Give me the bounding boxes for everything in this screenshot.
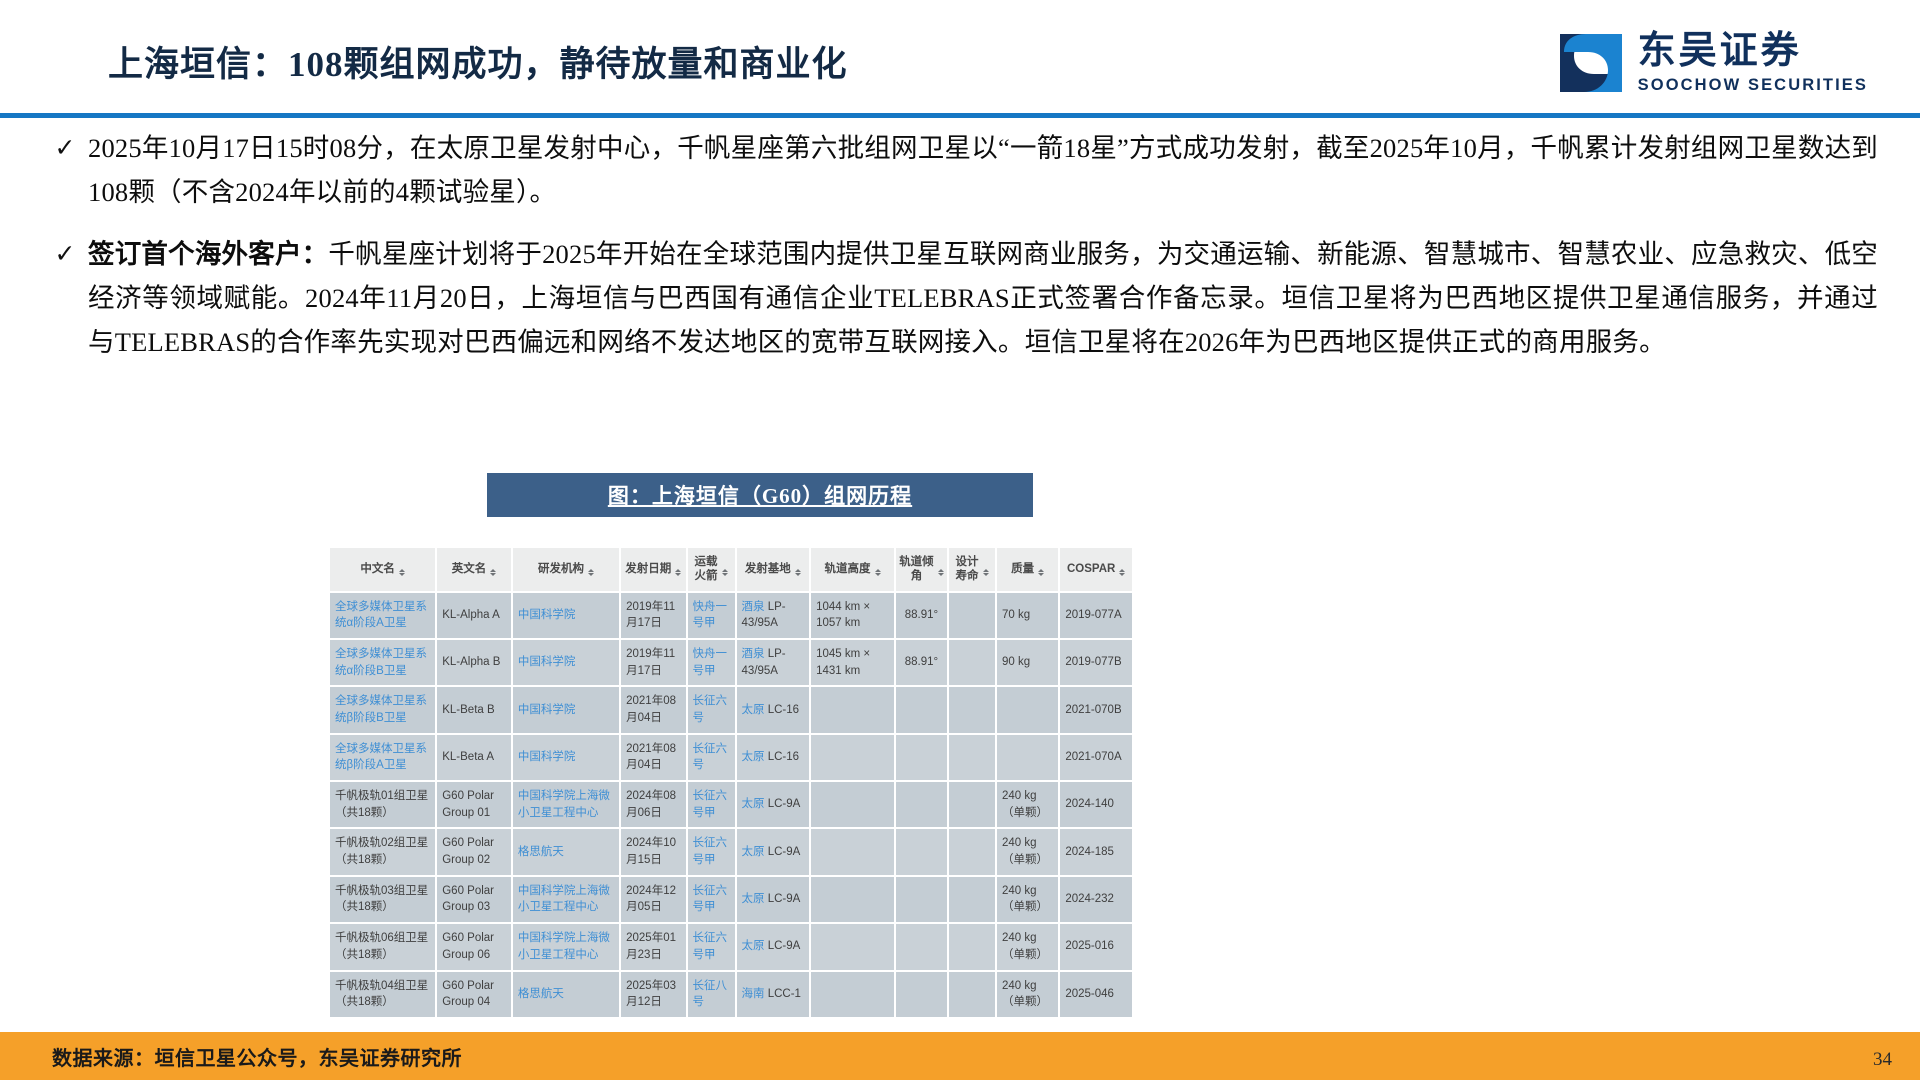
cell-altitude bbox=[810, 781, 895, 828]
sort-icon[interactable] bbox=[722, 566, 728, 572]
cell-launch-site-link[interactable]: 太原 bbox=[742, 798, 765, 810]
cell-launch-site[interactable]: 海南 LCC-1 bbox=[736, 971, 811, 1018]
cell-rocket[interactable]: 长征六号甲 bbox=[687, 781, 736, 828]
cell-org[interactable]: 中国科学院 bbox=[512, 592, 620, 639]
cell-rocket-link[interactable]: 快舟一号甲 bbox=[693, 648, 728, 677]
cell-name-cn-link[interactable]: 全球多媒体卫星系统β阶段A卫星 bbox=[335, 743, 427, 772]
cell-launch-site-link[interactable]: 海南 bbox=[742, 988, 765, 1000]
logo-name-en: SOOCHOW SECURITIES bbox=[1638, 77, 1868, 94]
footer-bar: 数据来源：垣信卫星公众号，东吴证券研究所 bbox=[0, 1032, 1920, 1080]
body-content: ✓ 2025年10月17日15时08分，在太原卫星发射中心，千帆星座第六批组网卫… bbox=[0, 126, 1920, 382]
cell-inclination bbox=[895, 923, 948, 970]
cell-launch-date: 2024年10月15日 bbox=[620, 828, 686, 875]
cell-launch-site-link[interactable]: 太原 bbox=[742, 751, 765, 763]
cell-rocket-link[interactable]: 长征六号 bbox=[693, 695, 728, 724]
column-label: 研发机构 bbox=[538, 562, 584, 576]
cell-org-link[interactable]: 中国科学院上海微小卫星工程中心 bbox=[518, 885, 610, 914]
page-title: 上海垣信：108颗组网成功，静待放量和商业化 bbox=[108, 36, 848, 87]
bullet-text: 2025年10月17日15时08分，在太原卫星发射中心，千帆星座第六批组网卫星以… bbox=[88, 126, 1878, 214]
cell-name-en: G60 Polar Group 04 bbox=[436, 971, 512, 1018]
column-label: 发射基地 bbox=[745, 562, 791, 576]
cell-mass bbox=[996, 734, 1059, 781]
cell-launch-date: 2021年08月04日 bbox=[620, 686, 686, 733]
column-header-altitude[interactable]: 轨道高度 bbox=[810, 548, 895, 592]
cell-altitude bbox=[810, 971, 895, 1018]
cell-rocket[interactable]: 长征六号甲 bbox=[687, 923, 736, 970]
table-row: 全球多媒体卫星系统α阶段B卫星KL-Alpha B中国科学院2019年11月17… bbox=[330, 639, 1133, 686]
sort-icon[interactable] bbox=[1038, 566, 1044, 572]
cell-launch-date: 2019年11月17日 bbox=[620, 592, 686, 639]
column-label: 英文名 bbox=[452, 562, 487, 576]
bullet-item: ✓ 2025年10月17日15时08分，在太原卫星发射中心，千帆星座第六批组网卫… bbox=[0, 126, 1920, 214]
slide-header: 上海垣信：108颗组网成功，静待放量和商业化 东吴证券 SOOCHOW SECU… bbox=[0, 0, 1920, 118]
sort-icon[interactable] bbox=[938, 566, 944, 572]
column-header-name-en[interactable]: 英文名 bbox=[436, 548, 512, 592]
sort-icon[interactable] bbox=[588, 566, 594, 572]
cell-org[interactable]: 中国科学院 bbox=[512, 639, 620, 686]
cell-name-cn[interactable]: 全球多媒体卫星系统α阶段B卫星 bbox=[330, 639, 436, 686]
column-label: 运载 火箭 bbox=[695, 555, 718, 584]
sort-icon[interactable] bbox=[875, 566, 881, 572]
column-header-inclination[interactable]: 轨道倾 角 bbox=[895, 548, 948, 592]
cell-name-cn: 千帆极轨02组卫星（共18颗） bbox=[330, 828, 436, 875]
cell-launch-site-link[interactable]: 太原 bbox=[742, 704, 765, 716]
cell-cospar: 2021-070A bbox=[1059, 734, 1133, 781]
cell-inclination bbox=[895, 828, 948, 875]
cell-lifetime bbox=[948, 639, 996, 686]
cell-mass: 240 kg（单颗） bbox=[996, 781, 1059, 828]
cell-name-cn-link[interactable]: 全球多媒体卫星系统α阶段B卫星 bbox=[335, 648, 427, 677]
sort-icon[interactable] bbox=[983, 566, 989, 572]
cell-rocket[interactable]: 长征八号 bbox=[687, 971, 736, 1018]
cell-cospar: 2024-232 bbox=[1059, 876, 1133, 923]
table-row: 全球多媒体卫星系统β阶段A卫星KL-Beta A中国科学院2021年08月04日… bbox=[330, 734, 1133, 781]
cell-inclination: 88.91° bbox=[895, 592, 948, 639]
cell-org-link[interactable]: 中国科学院上海微小卫星工程中心 bbox=[518, 790, 610, 819]
cell-lifetime bbox=[948, 876, 996, 923]
cell-launch-site[interactable]: 太原 LC-16 bbox=[736, 686, 811, 733]
cell-name-cn[interactable]: 全球多媒体卫星系统β阶段A卫星 bbox=[330, 734, 436, 781]
column-header-rocket[interactable]: 运载 火箭 bbox=[687, 548, 736, 592]
column-header-lifetime[interactable]: 设计 寿命 bbox=[948, 548, 996, 592]
cell-rocket-link[interactable]: 长征八号 bbox=[693, 980, 728, 1009]
cell-rocket[interactable]: 快舟一号甲 bbox=[687, 592, 736, 639]
cell-name-en: G60 Polar Group 03 bbox=[436, 876, 512, 923]
cell-org[interactable]: 中国科学院 bbox=[512, 734, 620, 781]
soochow-s-logo-icon bbox=[1558, 30, 1624, 96]
table-row: 全球多媒体卫星系统β阶段B卫星KL-Beta B中国科学院2021年08月04日… bbox=[330, 686, 1133, 733]
cell-rocket-link[interactable]: 长征六号甲 bbox=[693, 837, 728, 866]
cell-cospar: 2024-185 bbox=[1059, 828, 1133, 875]
cell-launch-site[interactable]: 太原 LC-16 bbox=[736, 734, 811, 781]
figure-title: 图：上海垣信（G60）组网历程 bbox=[608, 480, 912, 510]
satellite-table-container: 中文名 英文名 研发机构 发射日期 运载 火箭 发射基地 轨道高度 轨道倾 角 … bbox=[330, 548, 1134, 1019]
satellite-table: 中文名 英文名 研发机构 发射日期 运载 火箭 发射基地 轨道高度 轨道倾 角 … bbox=[330, 548, 1134, 1019]
header-divider bbox=[0, 113, 1920, 118]
column-label: 质量 bbox=[1011, 562, 1034, 576]
column-label: COSPAR bbox=[1067, 562, 1115, 576]
cell-launch-date: 2024年08月06日 bbox=[620, 781, 686, 828]
cell-mass: 70 kg bbox=[996, 592, 1059, 639]
table-row: 千帆极轨06组卫星（共18颗）G60 Polar Group 06中国科学院上海… bbox=[330, 923, 1133, 970]
cell-mass: 240 kg（单颗） bbox=[996, 876, 1059, 923]
column-header-mass[interactable]: 质量 bbox=[996, 548, 1059, 592]
cell-launch-site[interactable]: 太原 LC-9A bbox=[736, 876, 811, 923]
cell-org-link[interactable]: 中国科学院 bbox=[518, 751, 576, 763]
sort-icon[interactable] bbox=[490, 566, 496, 572]
company-logo: 东吴证券 SOOCHOW SECURITIES bbox=[1558, 28, 1868, 98]
cell-launch-site-link[interactable]: 太原 bbox=[742, 846, 765, 858]
cell-inclination bbox=[895, 781, 948, 828]
cell-launch-date: 2025年03月12日 bbox=[620, 971, 686, 1018]
cell-launch-site[interactable]: 太原 LC-9A bbox=[736, 828, 811, 875]
column-label: 轨道倾 角 bbox=[899, 555, 934, 584]
cell-rocket[interactable]: 快舟一号甲 bbox=[687, 639, 736, 686]
cell-rocket[interactable]: 长征六号 bbox=[687, 734, 736, 781]
cell-inclination bbox=[895, 876, 948, 923]
cell-lifetime bbox=[948, 828, 996, 875]
cell-org[interactable]: 格思航天 bbox=[512, 971, 620, 1018]
cell-mass bbox=[996, 686, 1059, 733]
column-label: 设计 寿命 bbox=[956, 555, 979, 584]
cell-launch-site-link[interactable]: 酒泉 bbox=[742, 601, 765, 613]
cell-name-cn: 千帆极轨01组卫星（共18颗） bbox=[330, 781, 436, 828]
cell-org[interactable]: 格思航天 bbox=[512, 828, 620, 875]
cell-inclination: 88.91° bbox=[895, 639, 948, 686]
cell-altitude bbox=[810, 734, 895, 781]
cell-lifetime bbox=[948, 686, 996, 733]
check-icon: ✓ bbox=[42, 126, 88, 170]
cell-rocket-link[interactable]: 长征六号甲 bbox=[693, 885, 728, 914]
table-row: 千帆极轨04组卫星（共18颗）G60 Polar Group 04格思航天202… bbox=[330, 971, 1133, 1018]
cell-inclination bbox=[895, 971, 948, 1018]
cell-name-cn-link[interactable]: 全球多媒体卫星系统α阶段A卫星 bbox=[335, 601, 427, 630]
cell-name-en: KL-Beta B bbox=[436, 686, 512, 733]
bullet-body: 千帆星座计划将于2025年开始在全球范围内提供卫星互联网商业服务，为交通运输、新… bbox=[88, 239, 1878, 357]
cell-rocket[interactable]: 长征六号甲 bbox=[687, 876, 736, 923]
cell-lifetime bbox=[948, 971, 996, 1018]
column-header-name-cn[interactable]: 中文名 bbox=[330, 548, 436, 592]
cell-rocket-link[interactable]: 长征六号甲 bbox=[693, 790, 728, 819]
cell-name-en: G60 Polar Group 01 bbox=[436, 781, 512, 828]
cell-rocket-link[interactable]: 长征六号 bbox=[693, 743, 728, 772]
cell-cospar: 2019-077A bbox=[1059, 592, 1133, 639]
column-label: 轨道高度 bbox=[825, 562, 871, 576]
cell-altitude bbox=[810, 876, 895, 923]
cell-name-cn: 千帆极轨06组卫星（共18颗） bbox=[330, 923, 436, 970]
table-header-row: 中文名 英文名 研发机构 发射日期 运载 火箭 发射基地 轨道高度 轨道倾 角 … bbox=[330, 548, 1133, 592]
column-header-launch-date[interactable]: 发射日期 bbox=[620, 548, 686, 592]
cell-name-cn[interactable]: 全球多媒体卫星系统β阶段B卫星 bbox=[330, 686, 436, 733]
bullet-text: 签订首个海外客户：千帆星座计划将于2025年开始在全球范围内提供卫星互联网商业服… bbox=[88, 232, 1878, 364]
cell-cospar: 2024-140 bbox=[1059, 781, 1133, 828]
cell-inclination bbox=[895, 686, 948, 733]
sort-icon[interactable] bbox=[795, 566, 801, 572]
column-header-cospar[interactable]: COSPAR bbox=[1059, 548, 1133, 592]
cell-launch-site-link[interactable]: 太原 bbox=[742, 893, 765, 905]
cell-mass: 240 kg（单颗） bbox=[996, 828, 1059, 875]
cell-name-en: G60 Polar Group 06 bbox=[436, 923, 512, 970]
cell-cospar: 2019-077B bbox=[1059, 639, 1133, 686]
cell-lifetime bbox=[948, 592, 996, 639]
cell-org[interactable]: 中国科学院 bbox=[512, 686, 620, 733]
data-source-note: 数据来源：垣信卫星公众号，东吴证券研究所 bbox=[52, 1042, 462, 1071]
cell-rocket[interactable]: 长征六号 bbox=[687, 686, 736, 733]
cell-org[interactable]: 中国科学院上海微小卫星工程中心 bbox=[512, 923, 620, 970]
sort-icon[interactable] bbox=[675, 566, 681, 572]
sort-icon[interactable] bbox=[399, 566, 405, 572]
figure-title-banner: 图：上海垣信（G60）组网历程 bbox=[487, 473, 1033, 517]
cell-org-link[interactable]: 中国科学院上海微小卫星工程中心 bbox=[518, 932, 610, 961]
table-header: 中文名 英文名 研发机构 发射日期 运载 火箭 发射基地 轨道高度 轨道倾 角 … bbox=[330, 548, 1133, 592]
cell-altitude: 1045 km × 1431 km bbox=[810, 639, 895, 686]
cell-launch-date: 2019年11月17日 bbox=[620, 639, 686, 686]
cell-lifetime bbox=[948, 781, 996, 828]
cell-launch-site[interactable]: 太原 LC-9A bbox=[736, 923, 811, 970]
cell-org-link[interactable]: 中国科学院 bbox=[518, 704, 576, 716]
cell-name-en: KL-Alpha B bbox=[436, 639, 512, 686]
cell-lifetime bbox=[948, 734, 996, 781]
bullet-item: ✓ 签订首个海外客户：千帆星座计划将于2025年开始在全球范围内提供卫星互联网商… bbox=[0, 232, 1920, 364]
cell-inclination bbox=[895, 734, 948, 781]
sort-icon[interactable] bbox=[1119, 566, 1125, 572]
logo-name-cn: 东吴证券 bbox=[1638, 32, 1868, 70]
cell-launch-site[interactable]: 酒泉 LP-43/95A bbox=[736, 639, 811, 686]
cell-org[interactable]: 中国科学院上海微小卫星工程中心 bbox=[512, 781, 620, 828]
table-row: 千帆极轨02组卫星（共18颗）G60 Polar Group 02格思航天202… bbox=[330, 828, 1133, 875]
cell-name-cn[interactable]: 全球多媒体卫星系统α阶段A卫星 bbox=[330, 592, 436, 639]
cell-cospar: 2025-016 bbox=[1059, 923, 1133, 970]
cell-org[interactable]: 中国科学院上海微小卫星工程中心 bbox=[512, 876, 620, 923]
cell-org-link[interactable]: 格思航天 bbox=[518, 988, 564, 1000]
cell-org-link[interactable]: 格思航天 bbox=[518, 846, 564, 858]
table-row: 千帆极轨01组卫星（共18颗）G60 Polar Group 01中国科学院上海… bbox=[330, 781, 1133, 828]
table-row: 千帆极轨03组卫星（共18颗）G60 Polar Group 03中国科学院上海… bbox=[330, 876, 1133, 923]
cell-launch-site[interactable]: 太原 LC-9A bbox=[736, 781, 811, 828]
cell-rocket-link[interactable]: 快舟一号甲 bbox=[693, 601, 728, 630]
cell-name-cn-link[interactable]: 全球多媒体卫星系统β阶段B卫星 bbox=[335, 695, 427, 724]
cell-altitude: 1044 km × 1057 km bbox=[810, 592, 895, 639]
cell-name-en: KL-Beta A bbox=[436, 734, 512, 781]
page-number: 34 bbox=[1873, 1049, 1892, 1071]
cell-name-en: G60 Polar Group 02 bbox=[436, 828, 512, 875]
cell-name-cn: 千帆极轨03组卫星（共18颗） bbox=[330, 876, 436, 923]
column-header-org[interactable]: 研发机构 bbox=[512, 548, 620, 592]
cell-launch-site-link[interactable]: 酒泉 bbox=[742, 648, 765, 660]
cell-rocket-link[interactable]: 长征六号甲 bbox=[693, 932, 728, 961]
cell-launch-date: 2024年12月05日 bbox=[620, 876, 686, 923]
cell-launch-date: 2025年01月23日 bbox=[620, 923, 686, 970]
cell-mass: 240 kg（单颗） bbox=[996, 971, 1059, 1018]
column-header-launch-site[interactable]: 发射基地 bbox=[736, 548, 811, 592]
cell-mass: 240 kg（单颗） bbox=[996, 923, 1059, 970]
cell-cospar: 2025-046 bbox=[1059, 971, 1133, 1018]
cell-altitude bbox=[810, 686, 895, 733]
column-label: 中文名 bbox=[360, 562, 395, 576]
cell-altitude bbox=[810, 828, 895, 875]
cell-org-link[interactable]: 中国科学院 bbox=[518, 609, 576, 621]
bullet-lead: 签订首个海外客户： bbox=[88, 239, 328, 269]
cell-launch-site-link[interactable]: 太原 bbox=[742, 940, 765, 952]
cell-rocket[interactable]: 长征六号甲 bbox=[687, 828, 736, 875]
column-label: 发射日期 bbox=[625, 562, 671, 576]
cell-name-en: KL-Alpha A bbox=[436, 592, 512, 639]
cell-mass: 90 kg bbox=[996, 639, 1059, 686]
cell-org-link[interactable]: 中国科学院 bbox=[518, 656, 576, 668]
table-body: 全球多媒体卫星系统α阶段A卫星KL-Alpha A中国科学院2019年11月17… bbox=[330, 592, 1133, 1018]
cell-launch-date: 2021年08月04日 bbox=[620, 734, 686, 781]
cell-altitude bbox=[810, 923, 895, 970]
cell-lifetime bbox=[948, 923, 996, 970]
cell-cospar: 2021-070B bbox=[1059, 686, 1133, 733]
cell-launch-site[interactable]: 酒泉 LP-43/95A bbox=[736, 592, 811, 639]
check-icon: ✓ bbox=[42, 232, 88, 276]
table-row: 全球多媒体卫星系统α阶段A卫星KL-Alpha A中国科学院2019年11月17… bbox=[330, 592, 1133, 639]
cell-name-cn: 千帆极轨04组卫星（共18颗） bbox=[330, 971, 436, 1018]
